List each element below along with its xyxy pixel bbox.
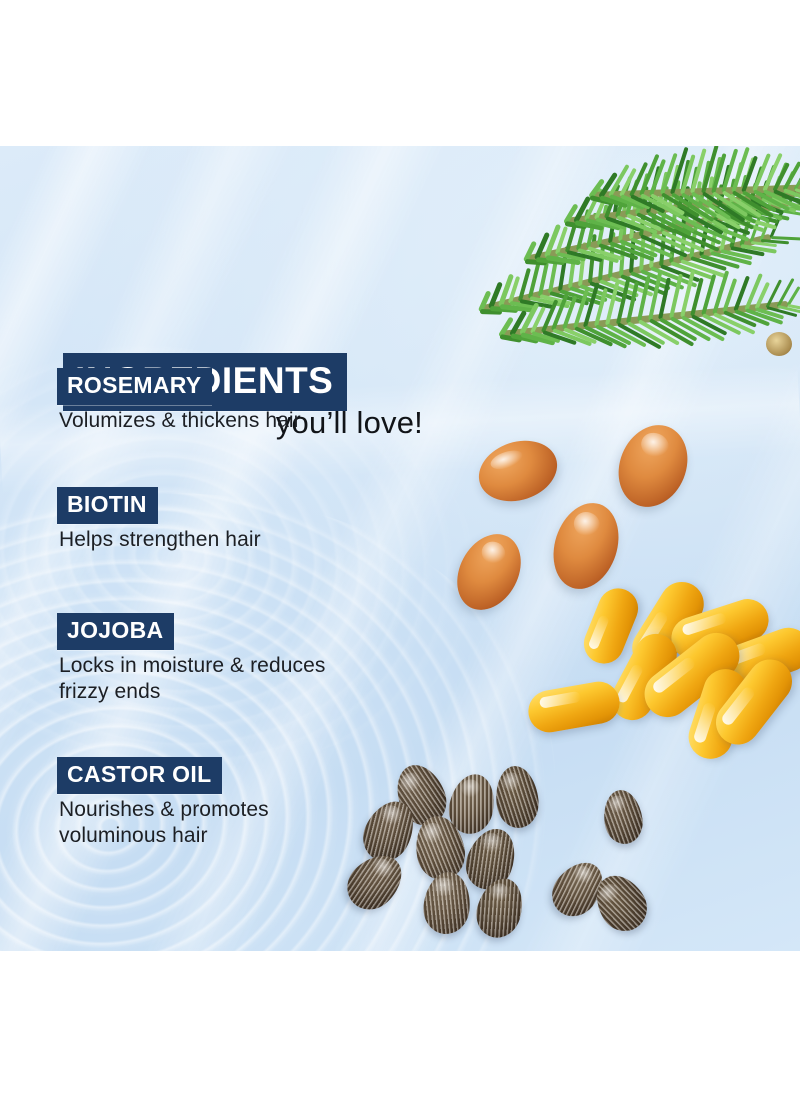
ingredient-description-rosemary: Volumizes & thickens hair bbox=[59, 408, 389, 434]
ingredient-description-biotin: Helps strengthen hair bbox=[59, 527, 389, 553]
gel-capsule bbox=[525, 678, 623, 735]
argan-nut bbox=[543, 495, 629, 598]
castor-bean bbox=[600, 788, 645, 847]
ingredient-description-castor-oil: Nourishes & promotes voluminous hair bbox=[59, 797, 379, 848]
ingredient-badge-jojoba: JOJOBA bbox=[57, 613, 174, 650]
rosemary-sprigs-image bbox=[470, 156, 800, 386]
ingredient-badge-rosemary: ROSEMARY bbox=[57, 368, 212, 405]
castor-bean bbox=[493, 764, 541, 830]
argan-nut bbox=[471, 431, 565, 511]
castor-bean bbox=[421, 870, 473, 936]
ingredients-infographic: INGREDIENTS you’ll love! ROSEMARY Volumi… bbox=[0, 0, 800, 1096]
castor-beans-image bbox=[350, 760, 680, 935]
rosemary-stem-end bbox=[766, 332, 792, 356]
ingredient-badge-castor-oil: CASTOR OIL bbox=[57, 757, 222, 794]
ingredient-description-jojoba: Locks in moisture & reduces frizzy ends bbox=[59, 653, 379, 704]
product-lifestyle-photo: INGREDIENTS you’ll love! ROSEMARY Volumi… bbox=[0, 146, 800, 951]
ingredient-badge-biotin: BIOTIN bbox=[57, 487, 158, 524]
argan-nut bbox=[607, 415, 700, 518]
